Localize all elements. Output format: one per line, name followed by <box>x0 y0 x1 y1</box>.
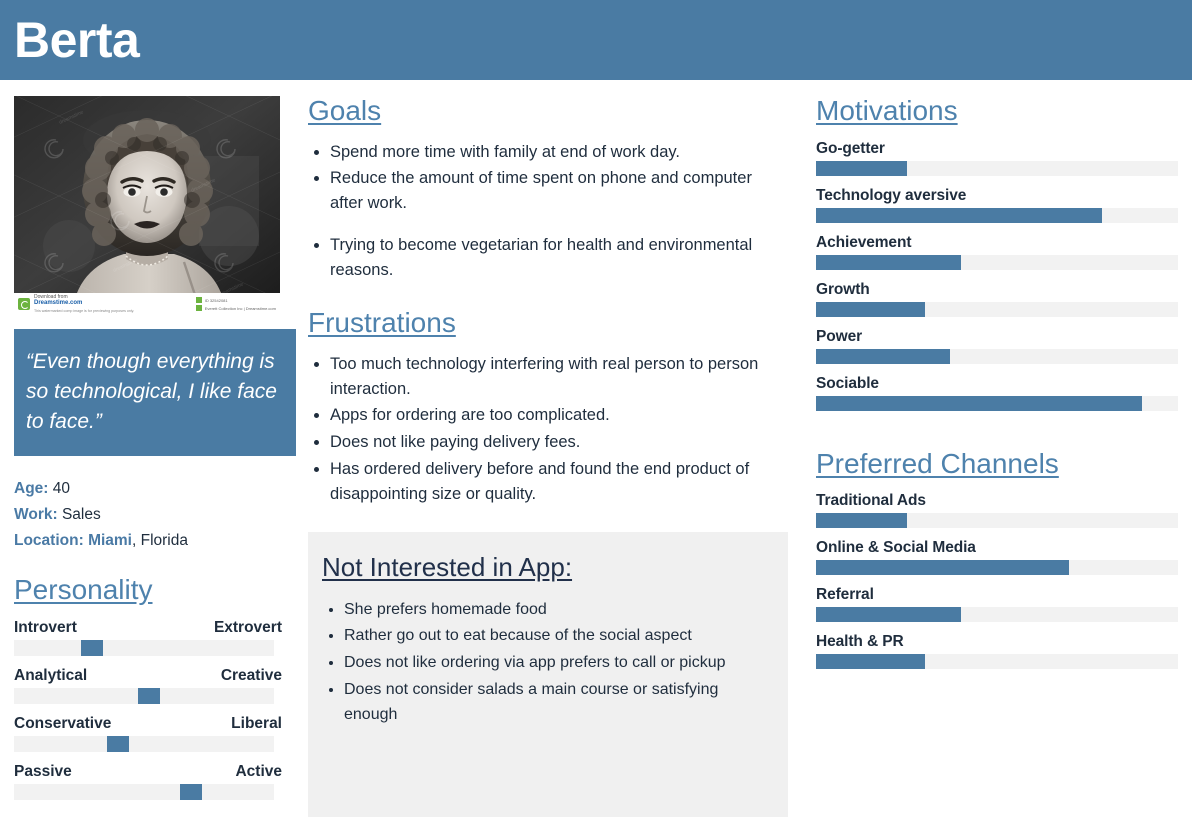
watermark-credit: Everett Collection Inc | Dreamstime.com <box>205 306 276 311</box>
meter-track <box>816 208 1178 223</box>
slider-thumb[interactable] <box>180 784 202 800</box>
meter-fill <box>816 396 1142 411</box>
frustrations-heading: Frustrations <box>308 306 786 340</box>
slider-track[interactable] <box>14 640 274 656</box>
watermark-id-row: ID 32542081 <box>196 297 228 303</box>
meter-track <box>816 255 1178 270</box>
motivation-go-getter: Go-getter <box>816 140 1176 176</box>
list-item: Does not like paying delivery fees. <box>330 430 786 455</box>
frustrations-section: Frustrations Too much technology interfe… <box>308 306 786 506</box>
stock-watermark-footer: Download from Dreamstime.com This waterm… <box>14 293 280 315</box>
personality-slider-conservative-liberal[interactable]: Conservative Liberal <box>14 715 282 752</box>
watermark-meta-group: ID 32542081 Everett Collection Inc | Dre… <box>196 297 276 311</box>
list-item: Does not consider salads a main course o… <box>344 678 770 728</box>
right-column: Motivations Go-getter Technology aversiv… <box>806 80 1192 680</box>
slider-label-left: Conservative <box>14 715 111 733</box>
meter-fill <box>816 208 1102 223</box>
meter-label: Growth <box>816 281 1176 299</box>
goals-section: Goals Spend more time with family at end… <box>308 94 786 282</box>
bio-row-age: Age: 40 <box>14 476 282 502</box>
persona-photo: dreamstime dreamstime dreamstime dreamst… <box>14 96 280 315</box>
goals-heading: Goals <box>308 94 786 128</box>
meter-label: Power <box>816 328 1176 346</box>
meter-label: Go-getter <box>816 140 1176 158</box>
channel-online-social-media: Online & Social Media <box>816 539 1176 575</box>
meter-track <box>816 607 1178 622</box>
meter-fill <box>816 255 961 270</box>
channel-health-pr: Health & PR <box>816 633 1176 669</box>
bio-row-location: Location: Miami, Florida <box>14 528 282 554</box>
watermark-id: ID 32542081 <box>205 298 228 303</box>
meter-fill <box>816 302 925 317</box>
list-item: Does not like ordering via app prefers t… <box>344 651 770 676</box>
middle-column: Goals Spend more time with family at end… <box>296 80 806 817</box>
slider-thumb[interactable] <box>81 640 103 656</box>
not-interested-list: She prefers homemade food Rather go out … <box>322 598 770 728</box>
motivation-technology-aversive: Technology aversive <box>816 187 1176 223</box>
slider-track[interactable] <box>14 784 274 800</box>
channel-traditional-ads: Traditional Ads <box>816 492 1176 528</box>
bio-value-age: 40 <box>53 480 70 497</box>
slider-track[interactable] <box>14 688 274 704</box>
watermark-brand: Dreamstime.com <box>34 300 82 306</box>
slider-labels: Analytical Creative <box>14 667 282 685</box>
list-item: Spend more time with family at end of wo… <box>330 140 786 165</box>
watermark-credit-row: Everett Collection Inc | Dreamstime.com <box>196 305 276 311</box>
slider-thumb[interactable] <box>138 688 160 704</box>
motivation-sociable: Sociable <box>816 375 1176 411</box>
bio-block: Age: 40 Work: Sales Location: Miami, Flo… <box>14 476 282 553</box>
motivations-heading: Motivations <box>816 94 1176 128</box>
persona-body: dreamstime dreamstime dreamstime dreamst… <box>0 80 1192 817</box>
list-item: Reduce the amount of time spent on phone… <box>330 166 786 216</box>
list-item: Trying to become vegetarian for health a… <box>330 233 786 283</box>
left-column: dreamstime dreamstime dreamstime dreamst… <box>0 80 296 811</box>
motivation-power: Power <box>816 328 1176 364</box>
personality-section: Personality Introvert Extrovert Analytic… <box>14 573 282 800</box>
slider-label-right: Extrovert <box>214 619 282 637</box>
meter-fill <box>816 513 907 528</box>
watermark-text-group: Download from Dreamstime.com This waterm… <box>34 294 134 314</box>
bio-value-work: Sales <box>62 506 101 523</box>
meter-track <box>816 513 1178 528</box>
meter-track <box>816 396 1178 411</box>
goals-list: Spend more time with family at end of wo… <box>308 140 786 283</box>
list-item: Has ordered delivery before and found th… <box>330 457 786 507</box>
not-interested-section: Not Interested in App: She prefers homem… <box>308 532 788 817</box>
dreamstime-logo-icon <box>18 298 30 310</box>
list-item: Too much technology interfering with rea… <box>330 352 786 402</box>
meter-label: Traditional Ads <box>816 492 1176 510</box>
square-marker-icon <box>196 297 202 303</box>
slider-label-right: Active <box>235 763 282 781</box>
persona-quote: “Even though everything is so technologi… <box>14 329 296 456</box>
portrait-image: dreamstime dreamstime dreamstime dreamst… <box>14 96 280 315</box>
list-item: She prefers homemade food <box>344 598 770 623</box>
bio-label-work: Work: <box>14 506 58 523</box>
slider-label-left: Passive <box>14 763 72 781</box>
motivation-growth: Growth <box>816 281 1176 317</box>
preferred-channels-section: Preferred Channels Traditional Ads Onlin… <box>816 447 1176 670</box>
slider-labels: Passive Active <box>14 763 282 781</box>
bio-label-location: Location: <box>14 532 84 549</box>
list-item: Rather go out to eat because of the soci… <box>344 624 770 649</box>
bio-label-age: Age: <box>14 480 48 497</box>
meter-track <box>816 349 1178 364</box>
meter-track <box>816 560 1178 575</box>
channels-heading: Preferred Channels <box>816 447 1176 481</box>
personality-slider-analytical-creative[interactable]: Analytical Creative <box>14 667 282 704</box>
channel-referral: Referral <box>816 586 1176 622</box>
personality-heading: Personality <box>14 573 282 607</box>
meter-label: Achievement <box>816 234 1176 252</box>
frustrations-list: Too much technology interfering with rea… <box>308 352 786 507</box>
not-interested-heading: Not Interested in App: <box>322 552 770 583</box>
watermark-download-from: Download from <box>34 294 68 300</box>
list-item: Apps for ordering are too complicated. <box>330 403 786 428</box>
meter-fill <box>816 654 925 669</box>
personality-slider-introvert-extrovert[interactable]: Introvert Extrovert <box>14 619 282 656</box>
meter-label: Health & PR <box>816 633 1176 651</box>
bio-row-work: Work: Sales <box>14 502 282 528</box>
meter-label: Sociable <box>816 375 1176 393</box>
bio-value-city: Miami <box>88 532 132 549</box>
meter-fill <box>816 349 950 364</box>
bio-value-state: , Florida <box>132 532 188 549</box>
slider-labels: Conservative Liberal <box>14 715 282 733</box>
meter-fill <box>816 560 1069 575</box>
meter-track <box>816 161 1178 176</box>
meter-track <box>816 654 1178 669</box>
slider-thumb[interactable] <box>107 736 129 752</box>
slider-label-left: Introvert <box>14 619 77 637</box>
square-marker-icon <box>196 305 202 311</box>
meter-fill <box>816 607 961 622</box>
meter-label: Technology aversive <box>816 187 1176 205</box>
slider-track[interactable] <box>14 736 274 752</box>
meter-label: Online & Social Media <box>816 539 1176 557</box>
slider-labels: Introvert Extrovert <box>14 619 282 637</box>
motivations-section: Motivations Go-getter Technology aversiv… <box>816 94 1176 411</box>
meter-fill <box>816 161 907 176</box>
slider-label-right: Creative <box>221 667 282 685</box>
personality-slider-passive-active[interactable]: Passive Active <box>14 763 282 800</box>
slider-label-right: Liberal <box>231 715 282 733</box>
slider-label-left: Analytical <box>14 667 87 685</box>
meter-label: Referral <box>816 586 1176 604</box>
page-title: Berta <box>14 15 139 65</box>
motivation-achievement: Achievement <box>816 234 1176 270</box>
page-header: Berta <box>0 0 1192 80</box>
meter-track <box>816 302 1178 317</box>
watermark-fine-print: This watermarked comp image is for previ… <box>34 309 134 313</box>
